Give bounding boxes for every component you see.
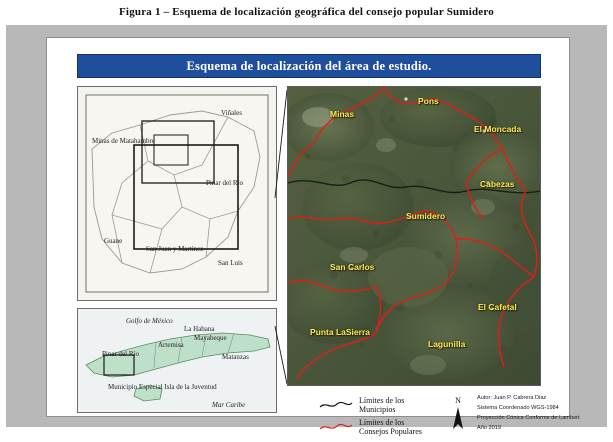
black-line-icon	[319, 398, 353, 412]
locator-province-svg	[78, 87, 276, 300]
satellite-label-sumidero: Sumidero	[406, 211, 445, 221]
satellite-label-minas: Minas	[330, 109, 354, 119]
credit-projection: Proyección Cónica Conforme de Lambert	[477, 413, 571, 423]
red-line-icon	[319, 420, 353, 434]
satellite-label-pons: Pons	[418, 96, 439, 106]
locator-label-pinar-del-rio-cuba: Pinar del Río	[102, 350, 139, 358]
satellite-label-lagunilla: Lagunilla	[428, 339, 465, 349]
locator-label-mar-caribe: Mar Caribe	[212, 401, 245, 409]
legend-item-consejos: Límites de los Consejos Populares	[319, 416, 459, 438]
locator-label-pinar-del-rio: Pinar del Río	[206, 179, 243, 187]
locator-label-la-habana: La Habana	[184, 325, 215, 333]
legend-label-consejos-line2: Consejos Populares	[359, 427, 422, 437]
satellite-label-punta-lasierra: Punta LaSierra	[310, 327, 370, 337]
locator-map-province: Viñales Minas de Matahambre Pinar del Rí…	[77, 86, 277, 301]
credit-year: Año 2019	[477, 423, 571, 433]
figure-white-plate: Esquema de localización del área de estu…	[46, 37, 570, 417]
north-arrow-icon	[445, 405, 471, 433]
satellite-map-panel: Minas Pons El Moncada Cabezas Sumidero S…	[287, 86, 541, 386]
credit-coordinate-system: Sistema Coordenado WGS-1984	[477, 403, 571, 413]
legend-label-municipios-line1: Límites de los	[359, 396, 404, 406]
figure-caption: Figura 1 – Esquema de localización geogr…	[0, 6, 613, 18]
credit-author: Autor: Juan P. Cabrera Diaz	[477, 393, 571, 403]
locator-label-san-luis: San Luis	[218, 259, 243, 267]
north-arrow: N	[445, 396, 471, 436]
figure-outer-frame: Esquema de localización del área de estu…	[6, 25, 607, 427]
map-credits: Autor: Juan P. Cabrera Diaz Sistema Coor…	[477, 393, 571, 433]
locator-label-artemisa: Artemisa	[158, 341, 184, 349]
legend-label-consejos: Límites de los Consejos Populares	[359, 418, 422, 437]
locator-label-minas-de-matahambre: Minas de Matahambre	[92, 137, 155, 145]
satellite-label-el-moncada: El Moncada	[474, 124, 521, 134]
locator-label-san-juan-y-martinez: San Juan y Martínez	[146, 245, 203, 253]
locator-map-cuba: Golfo de México La Habana Mayabeque Arte…	[77, 308, 277, 413]
satellite-label-el-cafetal: El Cafetal	[478, 302, 517, 312]
map-legend: Límites de los Municipios Límites de los…	[319, 394, 459, 442]
satellite-label-san-carlos: San Carlos	[330, 262, 374, 272]
locator-label-matanzas: Matanzas	[222, 353, 249, 361]
north-arrow-letter: N	[445, 396, 471, 405]
locator-label-vinales: Viñales	[221, 109, 242, 117]
legend-label-municipios: Límites de los Municipios	[359, 396, 404, 415]
locator-label-mayabeque: Mayabeque	[194, 334, 227, 342]
map-title-text: Esquema de localización del área de estu…	[186, 59, 431, 74]
locator-label-guane: Guane	[104, 237, 122, 245]
legend-label-consejos-line1: Límites de los	[359, 418, 422, 428]
figure-page: Figura 1 – Esquema de localización geogr…	[0, 0, 613, 433]
locator-label-isla-de-la-juventud: Municipio Especial Isla de la Juventud	[108, 383, 217, 391]
satellite-label-cabezas: Cabezas	[480, 179, 515, 189]
locator-label-golfo-de-mexico: Golfo de México	[126, 317, 173, 325]
map-title-bar: Esquema de localización del área de estu…	[77, 54, 541, 78]
legend-label-municipios-line2: Municipios	[359, 405, 404, 415]
legend-item-municipios: Límites de los Municipios	[319, 394, 459, 416]
